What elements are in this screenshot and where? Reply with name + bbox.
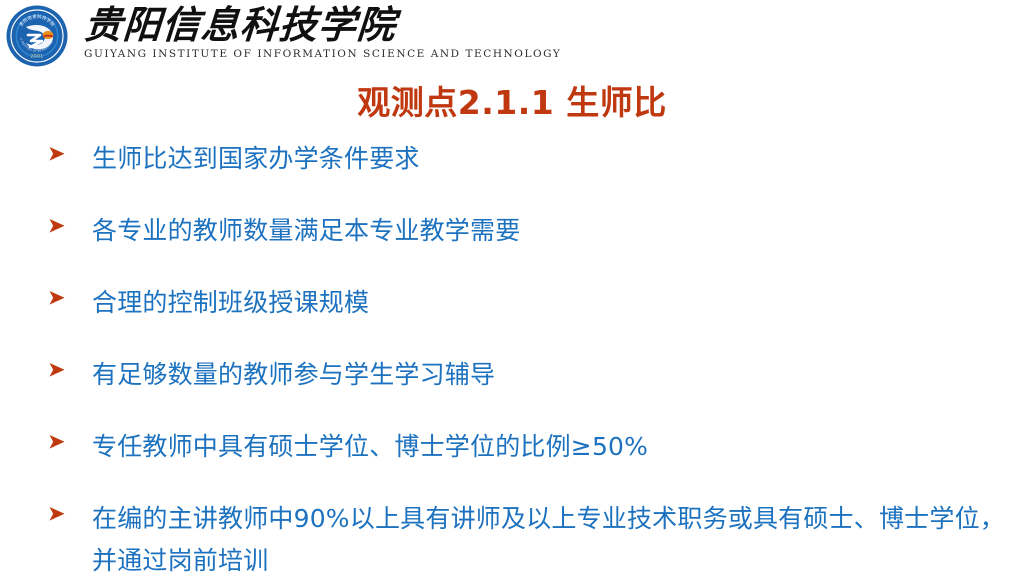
list-item: 生师比达到国家办学条件要求 bbox=[48, 138, 1020, 180]
arrow-bullet-icon bbox=[48, 505, 66, 527]
arrow-bullet-icon bbox=[48, 217, 66, 239]
list-item-label: 合理的控制班级授课规模 bbox=[92, 282, 369, 324]
page-title: 观测点2.1.1 生师比 bbox=[0, 82, 1024, 124]
arrow-bullet-icon bbox=[48, 361, 66, 383]
university-seal-icon: 2001 贵阳信息科技学院 GUIYANG INSTITUTE OF INFOR… bbox=[6, 5, 68, 67]
seal-year-text: 2001 bbox=[31, 53, 44, 59]
list-item: 各专业的教师数量满足本专业教学需要 bbox=[48, 210, 1020, 252]
list-item-label: 各专业的教师数量满足本专业教学需要 bbox=[92, 210, 520, 252]
wordmark-chinese: 贵阳信息科技学院 bbox=[83, 4, 563, 46]
bullet-list: 生师比达到国家办学条件要求 各专业的教师数量满足本专业教学需要 合理的控制班级授… bbox=[48, 138, 1020, 582]
list-item-label: 生师比达到国家办学条件要求 bbox=[92, 138, 420, 180]
list-item: 合理的控制班级授课规模 bbox=[48, 282, 1020, 324]
list-item: 有足够数量的教师参与学生学习辅导 bbox=[48, 354, 1020, 396]
list-item-label: 有足够数量的教师参与学生学习辅导 bbox=[92, 354, 495, 396]
slide-canvas: 2001 贵阳信息科技学院 GUIYANG INSTITUTE OF INFOR… bbox=[0, 0, 1024, 576]
arrow-bullet-icon bbox=[48, 289, 66, 311]
arrow-bullet-icon bbox=[48, 145, 66, 167]
list-item-label: 在编的主讲教师中90%以上具有讲师及以上专业技术职务或具有硕士、博士学位，并通过… bbox=[92, 498, 1020, 582]
header-logo-lockup: 2001 贵阳信息科技学院 GUIYANG INSTITUTE OF INFOR… bbox=[6, 2, 561, 74]
arrow-bullet-icon bbox=[48, 433, 66, 455]
list-item-label: 专任教师中具有硕士学位、博士学位的比例≥50% bbox=[92, 426, 648, 468]
list-item: 专任教师中具有硕士学位、博士学位的比例≥50% bbox=[48, 426, 1020, 468]
wordmark: 贵阳信息科技学院 GUIYANG INSTITUTE OF INFORMATIO… bbox=[84, 2, 561, 61]
list-item: 在编的主讲教师中90%以上具有讲师及以上专业技术职务或具有硕士、博士学位，并通过… bbox=[48, 498, 1020, 582]
wordmark-english: GUIYANG INSTITUTE OF INFORMATION SCIENCE… bbox=[84, 47, 561, 61]
